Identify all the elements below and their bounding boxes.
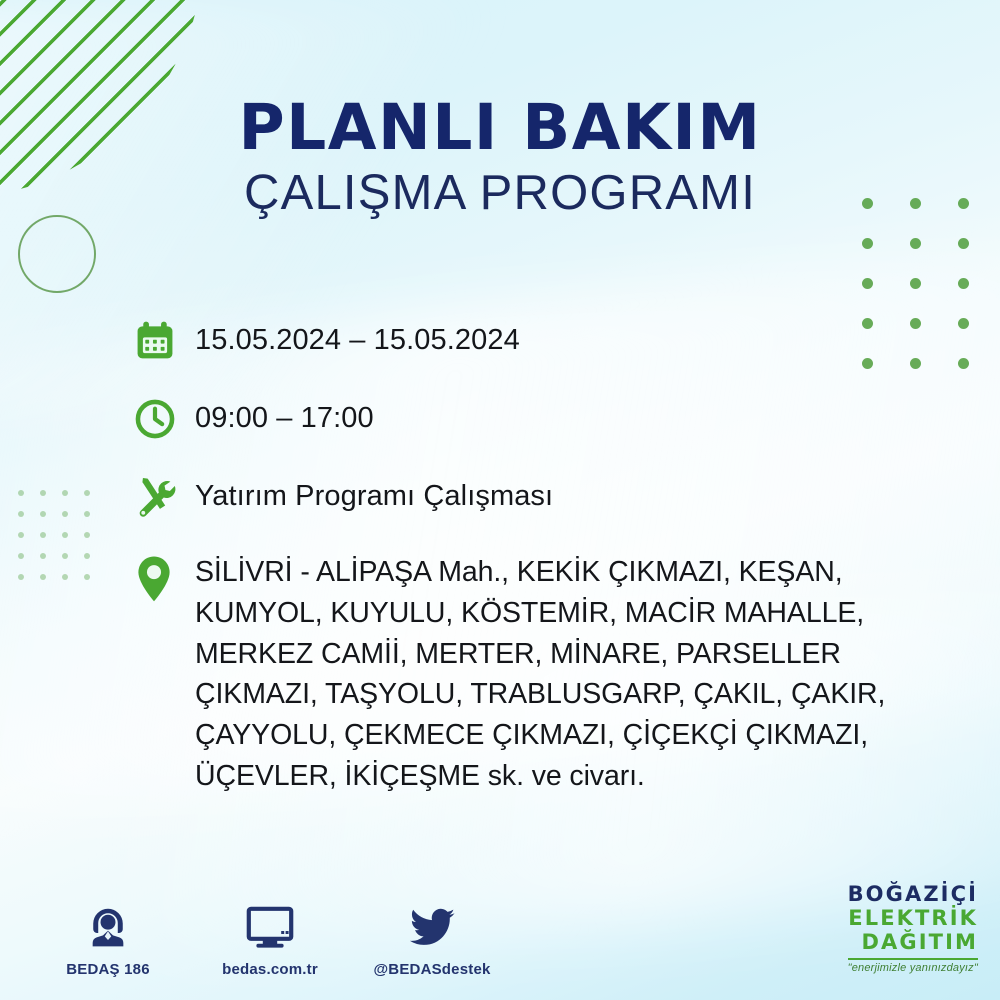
- poster-canvas: PLANLI BAKIM ÇALIŞMA PROGRAMI: [0, 0, 1000, 1000]
- contact-website-label: bedas.com.tr: [222, 961, 318, 978]
- address-line: MERKEZ CAMİİ, MERTER, MİNARE, PARSELLER: [195, 634, 885, 675]
- location-pin-icon: [133, 550, 195, 608]
- info-row-address: SİLİVRİ - ALİPAŞA Mah., KEKİK ÇIKMAZI, K…: [133, 550, 943, 797]
- twitter-bird-icon: [407, 900, 457, 950]
- dot-grid-left-decoration: [18, 490, 106, 595]
- call-center-agent-icon: [85, 900, 131, 950]
- address-line: ÜÇEVLER, İKİÇEŞME sk. ve civarı.: [195, 756, 885, 797]
- address-line: KUMYOL, KUYULU, KÖSTEMİR, MACİR MAHALLE,: [195, 593, 885, 634]
- contact-phone-label: BEDAŞ 186: [66, 961, 150, 978]
- contact-twitter[interactable]: @BEDASdestek: [372, 900, 492, 978]
- title-line-secondary: ÇALIŞMA PROGRAMI: [0, 166, 1000, 221]
- info-row-time: 09:00 – 17:00: [133, 390, 943, 448]
- info-row-work-type: Yatırım Programı Çalışması: [133, 468, 943, 526]
- address-text: SİLİVRİ - ALİPAŞA Mah., KEKİK ÇIKMAZI, K…: [195, 550, 885, 797]
- clock-icon: [133, 390, 195, 448]
- tools-icon: [133, 468, 195, 526]
- address-line: ÇIKMAZI, TAŞYOLU, TRABLUSGARP, ÇAKIL, ÇA…: [195, 674, 885, 715]
- contact-twitter-label: @BEDASdestek: [373, 961, 490, 978]
- calendar-icon: [133, 312, 195, 370]
- logo-tagline: "enerjimizle yanınızdayız": [848, 963, 978, 974]
- circle-outline-decoration: [18, 215, 96, 293]
- page-title: PLANLI BAKIM ÇALIŞMA PROGRAMI: [0, 96, 1000, 221]
- bedas-logo: BOĞAZİÇİ ELEKTRİK DAĞITIM "enerjimizle y…: [848, 884, 978, 974]
- logo-line-bogazici: BOĞAZİÇİ: [848, 884, 978, 905]
- date-range-text: 15.05.2024 – 15.05.2024: [195, 312, 520, 359]
- outage-info-block: 15.05.2024 – 15.05.2024 09:00 – 17:00 Ya…: [133, 312, 943, 797]
- work-type-text: Yatırım Programı Çalışması: [195, 468, 553, 515]
- title-line-primary: PLANLI BAKIM: [0, 96, 1000, 160]
- time-range-text: 09:00 – 17:00: [195, 390, 374, 437]
- footer-contacts: BEDAŞ 186 bedas.com.tr @BEDASdestek: [48, 900, 492, 978]
- logo-divider: [848, 958, 978, 960]
- address-line: SİLİVRİ - ALİPAŞA Mah., KEKİK ÇIKMAZI, K…: [195, 552, 885, 593]
- address-line: ÇAYYOLU, ÇEKMECE ÇIKMAZI, ÇİÇEKÇİ ÇIKMAZ…: [195, 715, 885, 756]
- contact-phone[interactable]: BEDAŞ 186: [48, 900, 168, 978]
- monitor-icon: [246, 900, 294, 950]
- logo-line-elektrik: ELEKTRİK: [848, 908, 978, 929]
- contact-website[interactable]: bedas.com.tr: [210, 900, 330, 978]
- logo-line-dagitim: DAĞITIM: [848, 932, 978, 953]
- info-row-date: 15.05.2024 – 15.05.2024: [133, 312, 943, 370]
